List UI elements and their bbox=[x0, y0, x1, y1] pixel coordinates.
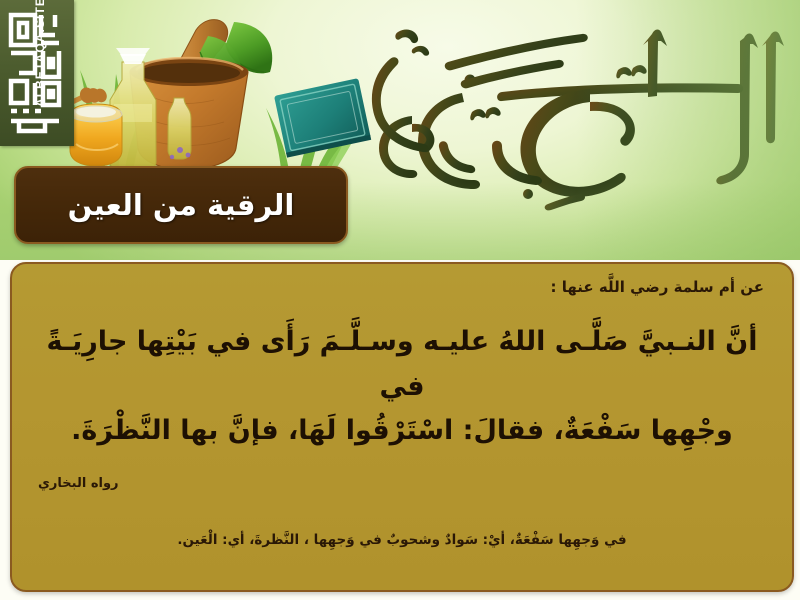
honey-jar bbox=[70, 104, 122, 166]
herbal-artwork bbox=[58, 0, 388, 190]
hadith-footnote: في وَجهِها سَفْعَةٌ، أيْ: سَوادٌ وشحوبٌ … bbox=[12, 532, 792, 548]
site-logo[interactable]: ALBETAQA.SITE bbox=[0, 0, 74, 146]
narrator-line: عن أم سلمة رضي اللَّه عنها : bbox=[551, 278, 764, 296]
site-name-label: ALBETAQA.SITE bbox=[33, 0, 47, 112]
hadith-line: أنَّ النـبيَّ صَلَّـى اللهُ عليـه وسـلَّ… bbox=[34, 320, 770, 409]
hadith-source: رواه البخاري bbox=[38, 476, 119, 491]
hadith-panel: عن أم سلمة رضي اللَّه عنها : أنَّ النـبي… bbox=[10, 262, 794, 592]
poster-canvas: ALBETAQA.SITE الرقية من العين عن أم سلمة… bbox=[0, 0, 800, 600]
hadith-text: أنَّ النـبيَّ صَلَّـى اللهُ عليـه وسـلَّ… bbox=[34, 320, 770, 454]
subtitle-plaque: الرقية من العين bbox=[14, 166, 348, 244]
subtitle-text: الرقية من العين bbox=[68, 188, 295, 222]
hadith-line: وجْهِها سَفْعَةٌ، فقالَ: اسْتَرْقُوا لَه… bbox=[34, 409, 770, 454]
main-title-calligraphy bbox=[352, 6, 792, 216]
